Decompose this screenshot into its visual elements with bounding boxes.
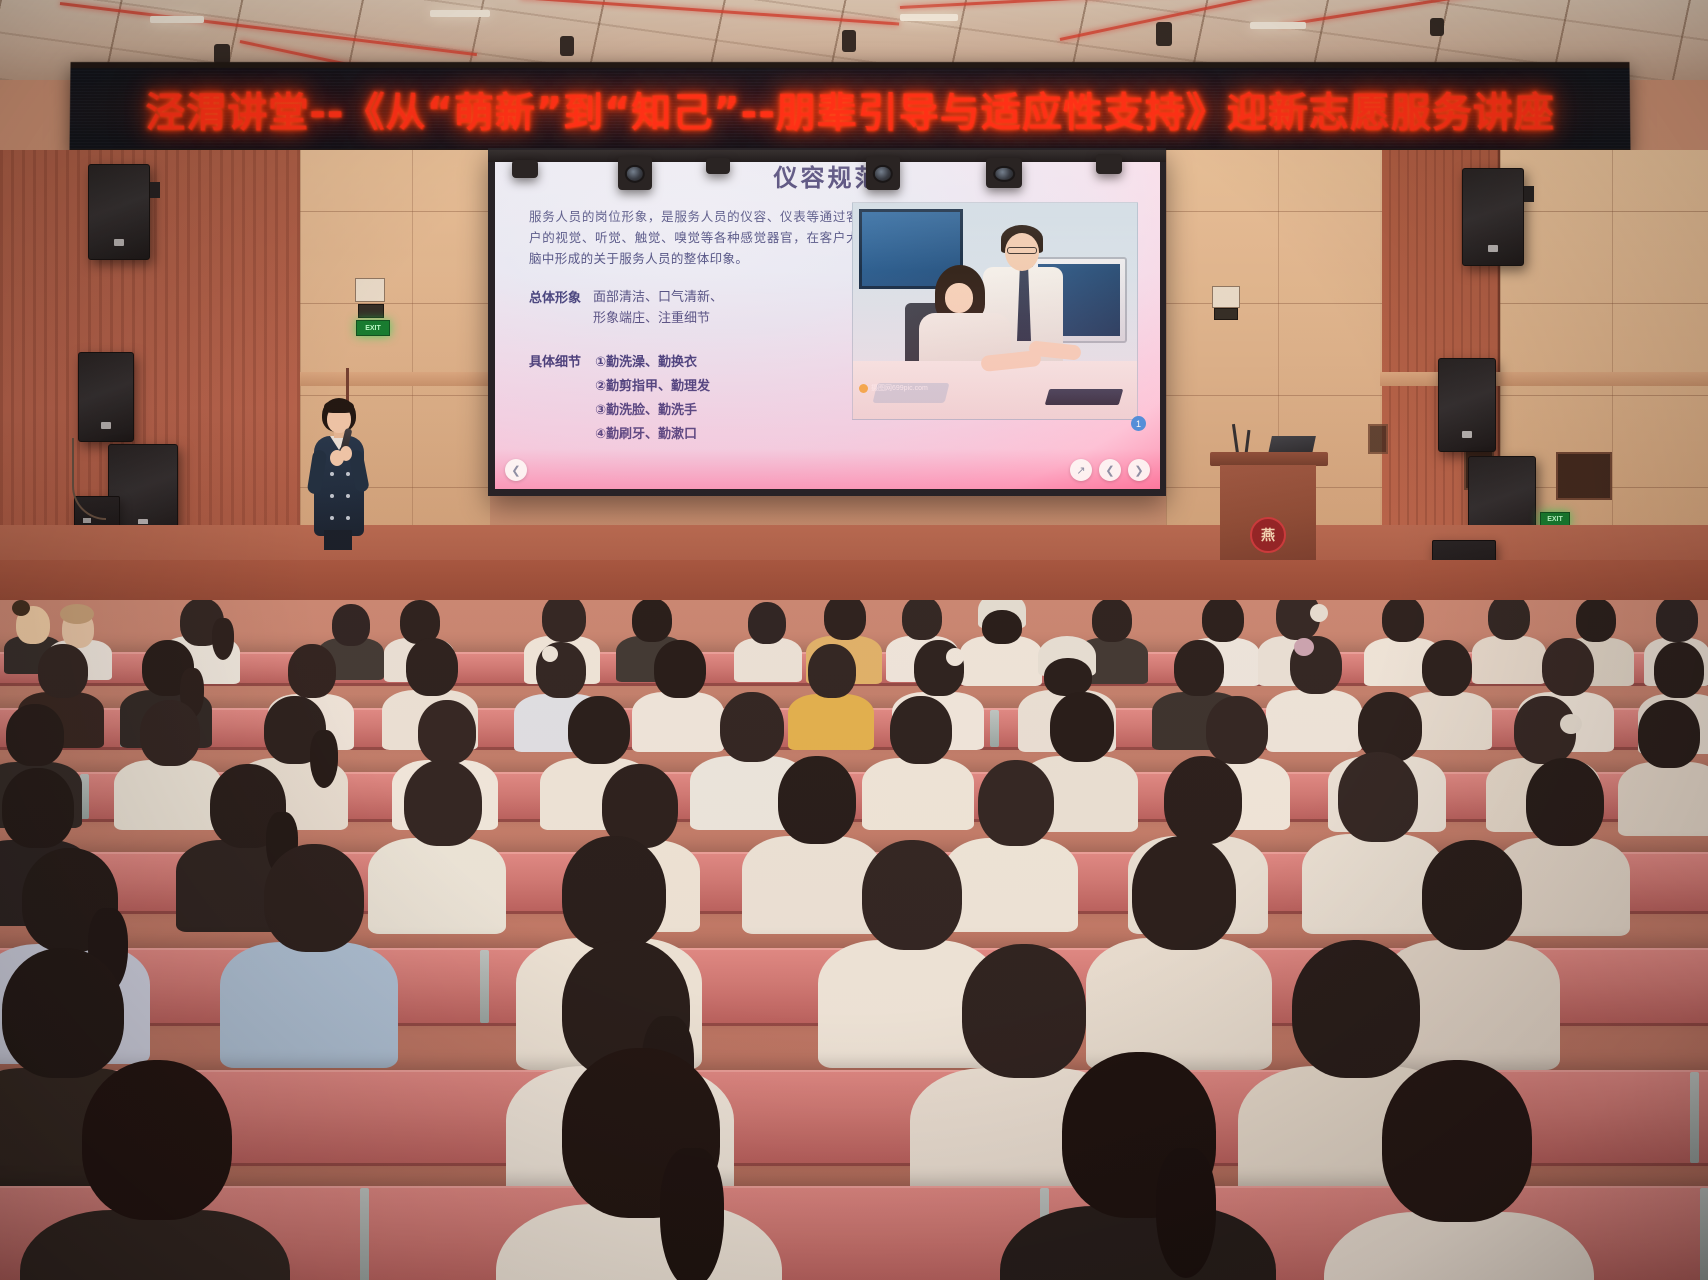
- person-head: [1526, 758, 1604, 846]
- presenter: [300, 398, 378, 548]
- person-head: [1638, 700, 1700, 768]
- stage-par-light: [1096, 154, 1122, 174]
- ceiling-spotlight: [214, 44, 230, 64]
- watermark-dot-icon: [859, 384, 868, 393]
- slide-details-label: 具体细节: [529, 351, 581, 447]
- person-ponytail: [1156, 1148, 1216, 1278]
- person-shoulders: [20, 1210, 290, 1280]
- person-head: [1092, 600, 1132, 642]
- stage-moving-head-light: [986, 158, 1022, 188]
- share-icon[interactable]: ↗: [1070, 459, 1092, 481]
- stage-par-light: [706, 158, 730, 174]
- seat-divider: [360, 1188, 369, 1280]
- person-head: [1422, 640, 1472, 696]
- photo-keyboard: [1045, 389, 1124, 405]
- person-head: [902, 600, 942, 640]
- person-shoulders: [114, 760, 222, 830]
- university-emblem: 燕: [1250, 517, 1286, 553]
- person-head: [1164, 756, 1242, 844]
- person-head: [862, 840, 962, 950]
- led-banner: 泾渭讲堂--《从“萌新”到“知己”--朋辈引导与适应性支持》迎新志愿服务讲座: [69, 62, 1630, 154]
- projection-screen[interactable]: 仪容规范 服务人员的岗位形象，是服务人员的仪容、仪表等通过客户的视觉、听觉、触觉…: [495, 154, 1160, 489]
- hair-scrunchie: [946, 648, 964, 666]
- person-head: [962, 944, 1086, 1078]
- exit-sign-label: EXIT: [365, 325, 381, 332]
- wall-speaker: [88, 164, 150, 260]
- wall-vent: [1368, 424, 1388, 454]
- wall-speaker: [1462, 168, 1524, 266]
- wall-plaque: [1212, 286, 1240, 308]
- slide-nav-left-group[interactable]: ❮: [505, 459, 527, 481]
- ceiling-light: [900, 14, 958, 21]
- dress-button: [330, 472, 334, 476]
- person-hair: [60, 604, 94, 624]
- ceiling-spotlight: [1430, 18, 1444, 36]
- slide-text-block: 服务人员的岗位形象，是服务人员的仪容、仪表等通过客户的视觉、听觉、触觉、嗅觉等各…: [529, 206, 859, 447]
- person-head: [6, 704, 64, 766]
- person-head: [1488, 600, 1530, 640]
- lecture-hall-photo: 泾渭讲堂--《从“萌新”到“知己”--朋辈引导与适应性支持》迎新志愿服务讲座 E…: [0, 0, 1708, 1280]
- person-head: [1656, 600, 1698, 642]
- slide-detail-item: ①勤洗澡、勤换衣: [595, 351, 710, 375]
- audience-seating-area: [0, 600, 1708, 1280]
- speaker-bracket: [1524, 186, 1534, 202]
- wall-vent: [1556, 452, 1612, 500]
- slide-nav-right-group[interactable]: ↗ ❮ ❯: [1070, 459, 1150, 481]
- photo-watermark: 摄图网699pic.com: [859, 383, 928, 393]
- podium-top: [1210, 452, 1328, 466]
- banner-headline: 泾渭讲堂--《从“萌新”到“知己”--朋辈引导与适应性支持》迎新志愿服务讲座: [145, 80, 1555, 138]
- person-head: [82, 1060, 232, 1220]
- podium: 燕: [1216, 452, 1322, 570]
- slide-overall-line: 形象端庄、注重细节: [593, 308, 723, 329]
- person-shoulders: [734, 638, 802, 682]
- slide-title: 仪容规范: [495, 158, 1160, 193]
- seat-divider: [1690, 1072, 1699, 1163]
- person-shoulders: [944, 838, 1078, 932]
- wall-speaker: [1438, 358, 1496, 452]
- slide-details-group: 具体细节 ①勤洗澡、勤换衣 ②勤剪指甲、勤理发 ③勤洗脸、勤洗手 ④勤刷牙、勤漱…: [529, 351, 859, 447]
- photo-man-glasses: [1007, 247, 1037, 254]
- seat-divider: [990, 710, 999, 747]
- watermark-text: 摄图网699pic.com: [871, 383, 928, 393]
- slide-detail-item: ②勤剪指甲、勤理发: [595, 375, 710, 399]
- person-head: [982, 610, 1022, 644]
- chevron-right-icon[interactable]: ❯: [1128, 459, 1150, 481]
- person-head: [418, 700, 476, 764]
- slide-detail-item: ④勤刷牙、勤漱口: [595, 423, 710, 447]
- slide-overall-values: 面部清洁、口气清新、 形象端庄、注重细节: [593, 287, 723, 329]
- wall-trim-band: [1380, 372, 1708, 386]
- seat-divider: [480, 950, 489, 1023]
- person-ponytail: [660, 1148, 724, 1280]
- person-head: [1382, 1060, 1532, 1222]
- slide-detail-item: ③勤洗脸、勤洗手: [595, 399, 710, 423]
- person-shoulders: [368, 838, 506, 934]
- person-head: [1576, 600, 1616, 642]
- ceiling-spotlight: [1156, 22, 1172, 46]
- person-head: [1654, 642, 1704, 698]
- person-head: [542, 600, 586, 642]
- stage-par-light: [512, 160, 538, 178]
- ceiling-light: [150, 16, 204, 23]
- ceiling-spotlight: [842, 30, 856, 52]
- person-head: [654, 640, 706, 698]
- slide-details-values: ①勤洗澡、勤换衣 ②勤剪指甲、勤理发 ③勤洗脸、勤洗手 ④勤刷牙、勤漱口: [595, 351, 710, 447]
- person-shoulders: [1266, 690, 1362, 752]
- person-head: [332, 604, 370, 646]
- person-head: [1358, 692, 1422, 762]
- person-shoulders: [1086, 938, 1272, 1070]
- person-head: [562, 836, 666, 950]
- slide-stock-photo: 摄图网699pic.com: [852, 202, 1138, 420]
- wall-plaque: [355, 278, 385, 302]
- chevron-left-icon[interactable]: ❮: [1099, 459, 1121, 481]
- stage-moving-head-light: [618, 156, 652, 190]
- slide-overall-label: 总体形象: [529, 287, 581, 329]
- exit-sign: EXIT: [356, 320, 390, 336]
- chevron-left-icon[interactable]: ❮: [505, 459, 527, 481]
- person-head: [720, 692, 784, 762]
- person-head: [748, 602, 786, 644]
- person-head: [1174, 640, 1224, 696]
- presenter-fringe: [324, 400, 354, 413]
- person-shoulders: [1324, 1212, 1594, 1280]
- person-shoulders: [1618, 762, 1708, 836]
- person-head: [568, 696, 630, 764]
- person-head: [38, 644, 88, 698]
- stage-moving-head-light: [866, 156, 900, 190]
- person-shoulders: [220, 942, 398, 1068]
- person-head: [632, 600, 672, 642]
- photo-woman-face: [945, 283, 973, 313]
- exit-sign-label: EXIT: [1547, 516, 1563, 523]
- light-lens: [625, 164, 645, 182]
- person-head: [288, 644, 336, 698]
- person-head: [1206, 696, 1268, 764]
- wall-device-box: [358, 304, 384, 318]
- person-shoulders: [862, 758, 974, 830]
- person-head: [1542, 638, 1594, 696]
- person-hair-bun: [12, 600, 30, 616]
- person-head: [890, 696, 952, 764]
- person-shoulders: [1472, 636, 1546, 684]
- person-head: [264, 844, 364, 952]
- person-head: [1050, 692, 1114, 762]
- wall-trim-band: [300, 372, 490, 386]
- ceiling-light: [430, 10, 490, 17]
- person-head: [1202, 600, 1244, 642]
- ceiling-light: [1250, 22, 1306, 29]
- person-shoulders: [788, 694, 874, 750]
- hair-scrunchie: [1560, 714, 1582, 734]
- person-shoulders: [632, 692, 724, 752]
- light-lens: [873, 164, 893, 182]
- slide-paragraph: 服务人员的岗位形象，是服务人员的仪容、仪表等通过客户的视觉、听觉、触觉、嗅觉等各…: [529, 206, 859, 269]
- person-head: [778, 756, 856, 844]
- person-head: [978, 760, 1054, 846]
- person-head: [1292, 940, 1420, 1078]
- seat-divider: [1700, 1188, 1708, 1280]
- wall-speaker: [78, 352, 134, 442]
- projection-screen-frame: 仪容规范 服务人员的岗位形象，是服务人员的仪容、仪表等通过客户的视觉、听觉、触觉…: [488, 148, 1166, 496]
- person-ponytail: [310, 730, 338, 788]
- slide-page-badge: 1: [1131, 416, 1146, 431]
- dress-button: [346, 494, 350, 498]
- speaker-bracket: [150, 182, 160, 198]
- person-head: [1382, 600, 1424, 642]
- hair-scrunchie: [542, 646, 558, 662]
- person-head: [808, 644, 856, 698]
- podium-body: 燕: [1220, 465, 1316, 570]
- person-head: [2, 768, 74, 848]
- dress-button: [346, 516, 350, 520]
- dress-button: [346, 472, 350, 476]
- presenter-lower-body: [324, 530, 352, 550]
- slide-overall-line: 面部清洁、口气清新、: [593, 287, 723, 308]
- presenter-hand-right: [340, 446, 352, 461]
- person-head: [140, 700, 200, 766]
- person-head: [2, 948, 124, 1078]
- person-head: [1338, 752, 1418, 842]
- person-head: [1132, 836, 1236, 950]
- dress-button: [330, 494, 334, 498]
- wall-device-box: [1214, 308, 1238, 320]
- light-lens: [993, 166, 1015, 182]
- person-head: [824, 600, 866, 640]
- ceiling-spotlight: [560, 36, 574, 56]
- person-shoulders: [742, 836, 882, 934]
- person-head: [406, 638, 458, 696]
- person-head: [1422, 840, 1522, 950]
- lighting-truss: [488, 150, 1166, 162]
- dress-button: [330, 516, 334, 520]
- person-head: [1044, 658, 1092, 696]
- slide-overall-image-group: 总体形象 面部清洁、口气清新、 形象端庄、注重细节: [529, 287, 859, 329]
- hair-scrunchie: [1310, 604, 1328, 622]
- hair-scrunchie: [1294, 638, 1314, 656]
- person-head: [404, 760, 482, 846]
- person-ponytail: [212, 618, 234, 660]
